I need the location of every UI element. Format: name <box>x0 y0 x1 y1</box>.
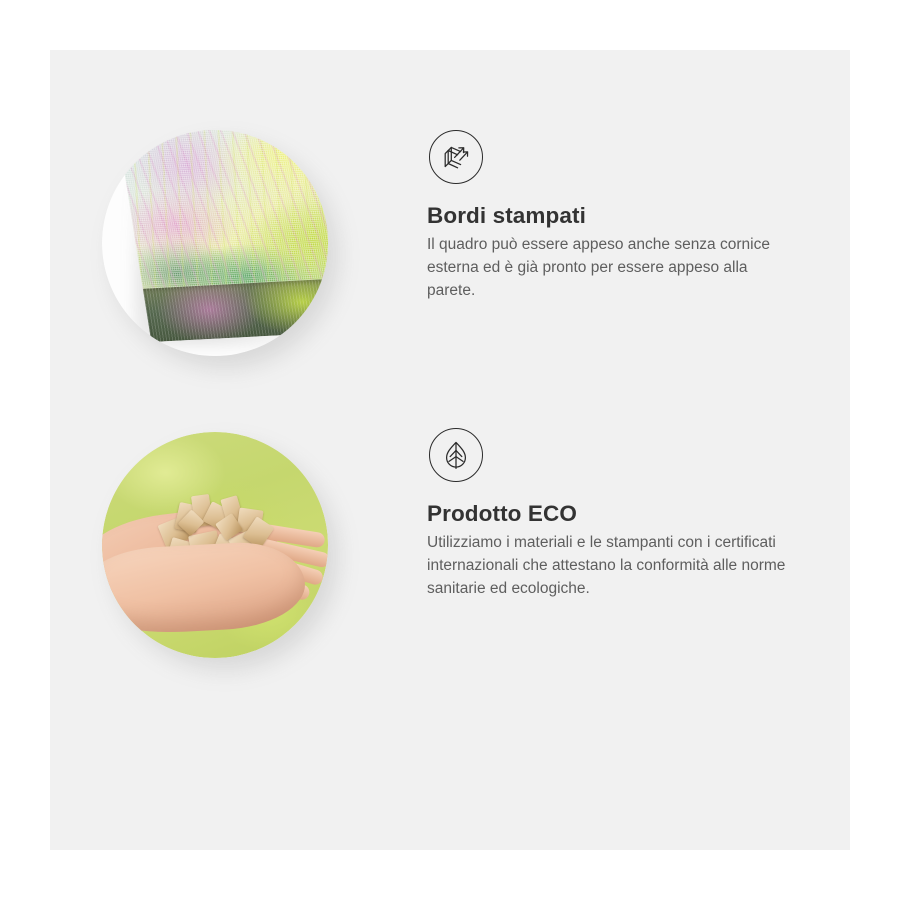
feature-text-column: Prodotto ECO Utilizziamo i materiali e l… <box>427 428 799 600</box>
feature-block-eco-product: Prodotto ECO Utilizziamo i materiali e l… <box>52 410 798 675</box>
feature-description: Utilizziamo i materiali e le stampanti c… <box>427 532 789 600</box>
feature-title: Prodotto ECO <box>427 500 799 528</box>
feature-title: Bordi stampati <box>427 202 799 230</box>
hands-holding-wood-chips-photo <box>102 432 328 658</box>
canvas-corner <box>119 130 328 340</box>
hand-front <box>102 539 308 636</box>
feature-text-column: Bordi stampati Il quadro può essere appe… <box>427 130 799 302</box>
product-feature-page: Bordi stampati Il quadro può essere appe… <box>0 0 900 900</box>
canvas-paint-streaks <box>119 130 328 295</box>
canvas-edge-arrows-icon <box>429 130 483 184</box>
feature-block-printed-edges: Bordi stampati Il quadro può essere appe… <box>52 130 798 380</box>
leaf-icon <box>429 428 483 482</box>
canvas-front-face <box>119 130 328 295</box>
eco-photo-background <box>102 432 328 658</box>
feature-description: Il quadro può essere appeso anche senza … <box>427 234 789 302</box>
canvas-print-corner-photo <box>102 130 328 356</box>
canvas-side-edge <box>143 278 328 342</box>
